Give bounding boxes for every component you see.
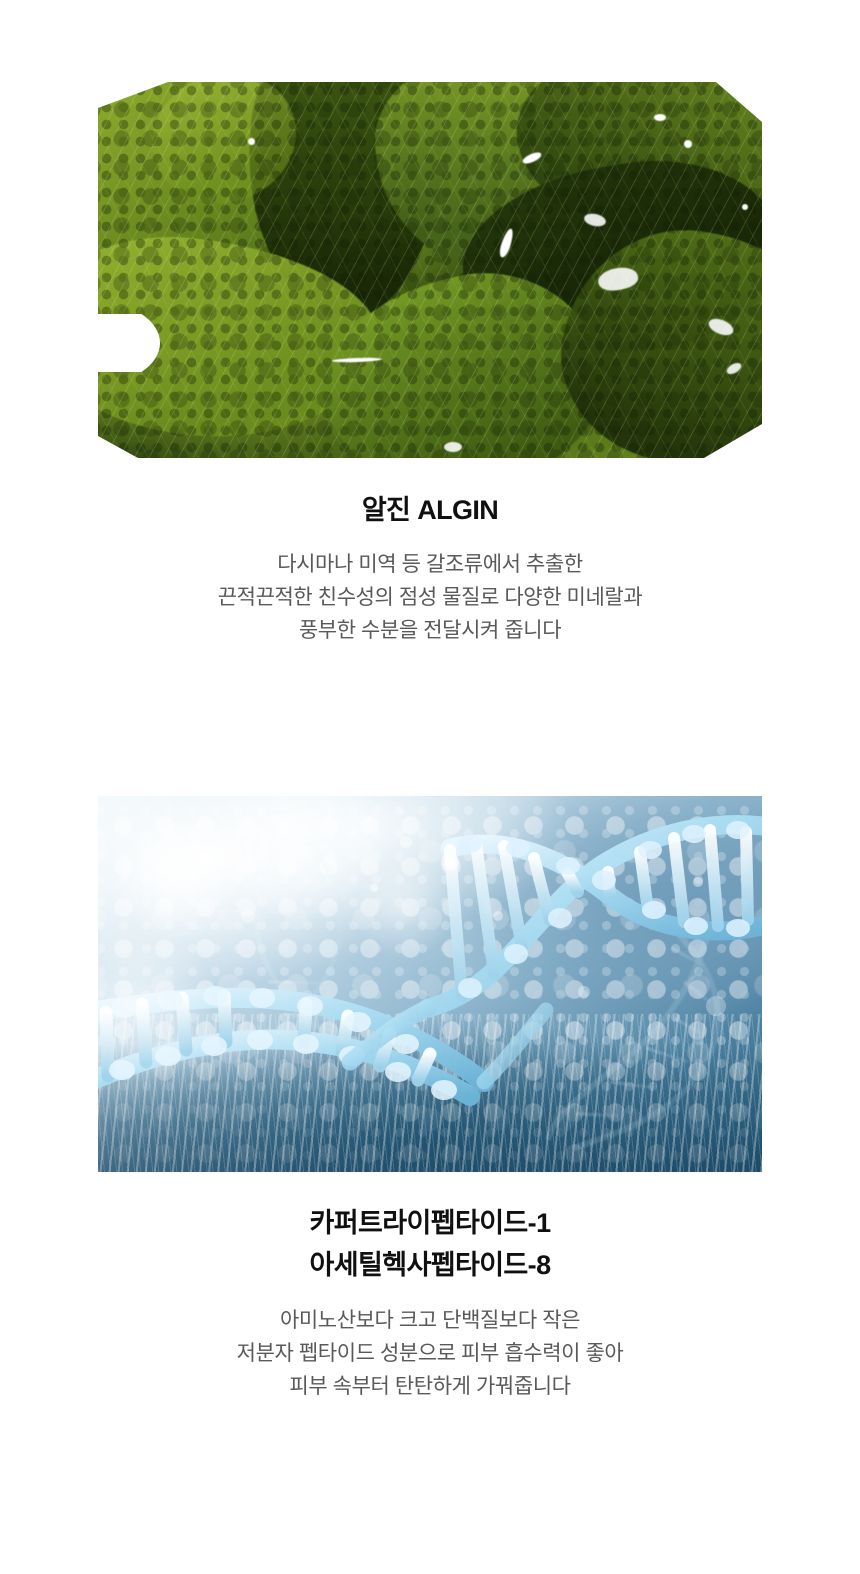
body-line: 아미노산보다 크고 단백질보다 작은 bbox=[0, 1304, 860, 1337]
heading-line: 카퍼트라이펩타이드-1 bbox=[0, 1202, 860, 1244]
kelp-vein-texture bbox=[98, 82, 762, 458]
section-heading-algin: 알진 ALGIN bbox=[0, 489, 860, 531]
section-body-peptide: 아미노산보다 크고 단백질보다 작은 저분자 펩타이드 성분으로 피부 흡수력이… bbox=[0, 1304, 860, 1403]
section-heading-peptide: 카퍼트라이펩타이드-1 아세틸헥사펩타이드-8 bbox=[0, 1202, 860, 1286]
water-foam bbox=[444, 442, 462, 452]
ingredient-detail-page: 알진 ALGIN 다시마나 미역 등 갈조류에서 추출한 끈적끈적한 친수성의 … bbox=[0, 0, 860, 1574]
dna-haze-overlay bbox=[98, 796, 762, 1172]
body-line: 끈적끈적한 친수성의 점성 물질로 다양한 미네랄과 bbox=[0, 581, 860, 614]
water-foam bbox=[654, 114, 666, 121]
dna-photo bbox=[98, 796, 762, 1172]
section-body-algin: 다시마나 미역 등 갈조류에서 추출한 끈적끈적한 친수성의 점성 물질로 다양… bbox=[0, 548, 860, 647]
water-foam bbox=[684, 140, 692, 148]
section-peptide: 카퍼트라이펩타이드-1 아세틸헥사펩타이드-8 아미노산보다 크고 단백질보다 … bbox=[0, 796, 860, 1403]
body-line: 풍부한 수분을 전달시켜 줍니다 bbox=[0, 614, 860, 647]
kelp-photo bbox=[98, 82, 762, 458]
body-line: 다시마나 미역 등 갈조류에서 추출한 bbox=[0, 548, 860, 581]
kelp-highlight-cut bbox=[98, 314, 160, 372]
water-foam bbox=[742, 204, 748, 210]
water-foam bbox=[248, 138, 255, 145]
body-line: 저분자 펩타이드 성분으로 피부 흡수력이 좋아 bbox=[0, 1337, 860, 1370]
heading-line: 아세틸헥사펩타이드-8 bbox=[0, 1244, 860, 1286]
section-algin: 알진 ALGIN 다시마나 미역 등 갈조류에서 추출한 끈적끈적한 친수성의 … bbox=[0, 82, 860, 647]
body-line: 피부 속부터 탄탄하게 가꿔줍니다 bbox=[0, 1370, 860, 1403]
